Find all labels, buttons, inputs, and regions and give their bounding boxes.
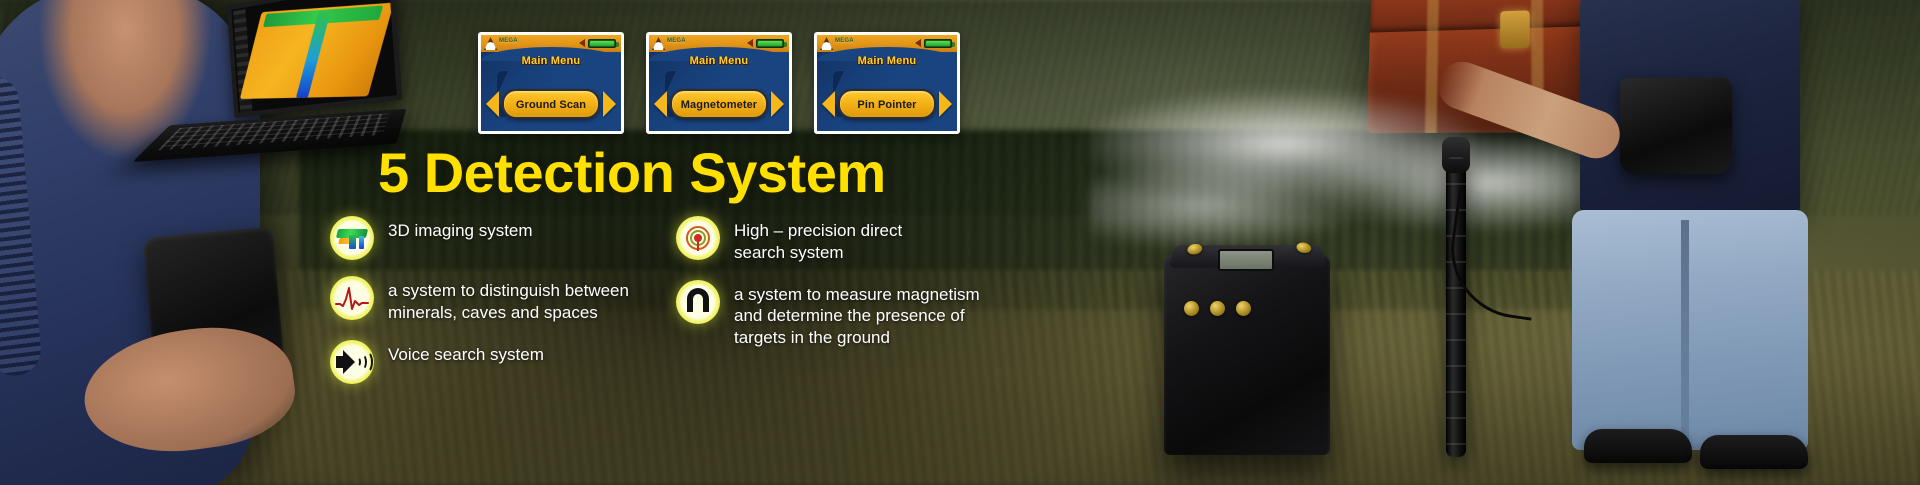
arrow-left-icon[interactable]: [822, 91, 835, 117]
feature-list-right: High – precision direct search system a …: [676, 216, 1036, 365]
arrow-left-icon[interactable]: [486, 91, 499, 117]
battery-icon: [588, 39, 616, 48]
right-person-shoe: [1700, 435, 1808, 469]
brand-logo-text: MEGA: [667, 38, 686, 44]
waveform-pulse-icon: [330, 276, 374, 320]
detector-case-photo: [1164, 255, 1330, 455]
device-menu-panels: MEGA Main Menu Ground Scan MEGA Main Men…: [478, 32, 960, 134]
feature-list-left: 3D imaging system a system to distinguis…: [330, 216, 680, 400]
mode-button[interactable]: Pin Pointer: [838, 89, 936, 119]
feature-item-direct-search: High – precision direct search system: [676, 216, 1036, 264]
feature-item-magnetism: a system to measure magnetism and determ…: [676, 280, 1036, 349]
brand-logo-icon: [652, 37, 665, 50]
feature-item-3d-imaging: 3D imaging system: [330, 216, 680, 260]
mode-button[interactable]: Magnetometer: [670, 89, 768, 119]
speaker-icon: [915, 39, 921, 47]
brand-logo-text: MEGA: [835, 38, 854, 44]
panel-title: Main Menu: [817, 55, 957, 67]
case-knob-icon: [1236, 301, 1251, 316]
panel-status-bar: MEGA: [481, 35, 621, 52]
case-knob-icon: [1186, 244, 1203, 255]
panel-selector-row: Ground Scan: [481, 89, 621, 119]
arrow-right-icon[interactable]: [939, 91, 952, 117]
panel-selector-row: Pin Pointer: [817, 89, 957, 119]
battery-icon: [756, 39, 784, 48]
feature-label: a system to distinguish between minerals…: [388, 276, 629, 324]
feature-label: a system to measure magnetism and determ…: [734, 280, 980, 349]
panel-status-bar: MEGA: [649, 35, 789, 52]
brand-logo-icon: [820, 37, 833, 50]
right-person-belt-bag: [1620, 78, 1732, 174]
radar-target-icon: [676, 216, 720, 260]
panel-title: Main Menu: [481, 55, 621, 67]
speaker-icon: [747, 39, 753, 47]
brand-logo-text: MEGA: [499, 38, 518, 44]
arrow-right-icon[interactable]: [603, 91, 616, 117]
arrow-right-icon[interactable]: [771, 91, 784, 117]
device-panel-magnetometer[interactable]: MEGA Main Menu Magnetometer: [646, 32, 792, 134]
laptop-photo: [142, 0, 405, 171]
speaker-icon: [579, 39, 585, 47]
promo-banner: MEGA Main Menu Ground Scan MEGA Main Men…: [0, 0, 1920, 485]
panel-status-bar: MEGA: [817, 35, 957, 52]
right-person-shoe: [1584, 429, 1692, 463]
panel-selector-row: Magnetometer: [649, 89, 789, 119]
device-panel-ground-scan[interactable]: MEGA Main Menu Ground Scan: [478, 32, 624, 134]
arrow-left-icon[interactable]: [654, 91, 667, 117]
feature-item-voice-search: Voice search system: [330, 340, 680, 384]
mode-button[interactable]: Ground Scan: [502, 89, 600, 119]
laptop-keys: [158, 113, 390, 150]
detector-case-display: [1218, 249, 1274, 271]
laptop-screen: [227, 0, 403, 118]
speaker-sound-icon: [330, 340, 374, 384]
right-person-jeans: [1572, 210, 1808, 450]
device-panel-pin-pointer[interactable]: MEGA Main Menu Pin Pointer: [814, 32, 960, 134]
brand-logo-icon: [484, 37, 497, 50]
feature-label: 3D imaging system: [388, 216, 533, 242]
laptop-keyboard-base: [133, 109, 407, 162]
panel-title: Main Menu: [649, 55, 789, 67]
three-d-scan-graphic: [240, 2, 394, 98]
horseshoe-magnet-icon: [676, 280, 720, 324]
feature-label: High – precision direct search system: [734, 216, 902, 264]
case-knob-icon: [1210, 301, 1225, 316]
feature-label: Voice search system: [388, 340, 544, 366]
case-knob-icon: [1184, 301, 1199, 316]
three-d-terrain-icon: [330, 216, 374, 260]
battery-icon: [924, 39, 952, 48]
page-title: 5 Detection System: [378, 140, 886, 205]
feature-item-minerals-caves: a system to distinguish between minerals…: [330, 276, 680, 324]
